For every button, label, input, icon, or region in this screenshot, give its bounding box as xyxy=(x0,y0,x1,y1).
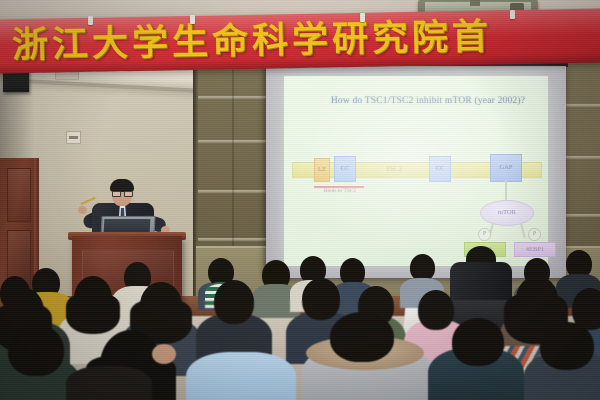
domain-box-lz: LZ xyxy=(314,158,330,182)
domain-box-cc2: CC xyxy=(429,156,451,182)
long-hair xyxy=(66,294,120,334)
audience-head-foreground xyxy=(452,318,504,366)
audience-head xyxy=(418,290,454,330)
speaker-glasses xyxy=(112,191,132,195)
binding-annotation: Binds to TSC1 xyxy=(310,188,370,194)
audience-head-foreground xyxy=(8,324,64,376)
domain-box-gap: GAP xyxy=(490,154,522,182)
connector-gap-mtor xyxy=(505,180,507,200)
audience-head-foreground xyxy=(330,312,394,362)
audience-head xyxy=(214,280,254,324)
phospho-circle-s6k1: P xyxy=(478,228,491,241)
panel-seam xyxy=(566,156,600,159)
connector-mtor-4ebp1 xyxy=(520,224,525,238)
projected-slide: How do TSC1/TSC2 inhibit mTOR (year 2002… xyxy=(284,76,548,266)
domain-box-cc1: CC xyxy=(334,156,356,182)
panel-seam-vertical xyxy=(232,58,234,248)
laptop-screen xyxy=(104,219,151,233)
target-box-4ebp1: 4EBP1 xyxy=(514,242,556,257)
wall-outlet-plate xyxy=(66,131,81,144)
projector-mount xyxy=(470,0,480,6)
speaker-left-hand xyxy=(78,206,87,214)
banner-clip xyxy=(360,13,365,22)
audience-head xyxy=(410,254,435,281)
phospho-circle-4ebp1: P xyxy=(528,228,541,241)
lecture-hall-photo: How do TSC1/TSC2 inhibit mTOR (year 2002… xyxy=(0,0,600,400)
panel-seam xyxy=(566,104,600,107)
banner-clip xyxy=(510,10,515,19)
panel-seam xyxy=(566,214,600,217)
audience-head xyxy=(302,278,340,320)
raised-hand xyxy=(152,344,176,364)
slide-title: How do TSC1/TSC2 inhibit mTOR (year 2002… xyxy=(328,96,528,106)
mtor-node: mTOR xyxy=(480,200,534,226)
banner-clip xyxy=(190,15,195,24)
protein-bar-label: TSC2 xyxy=(372,165,416,173)
audience-shoulders xyxy=(66,366,152,400)
audience-shoulders-blue-puffer xyxy=(186,352,296,400)
banner-clip xyxy=(88,16,93,25)
audience-head-foreground xyxy=(540,322,594,370)
